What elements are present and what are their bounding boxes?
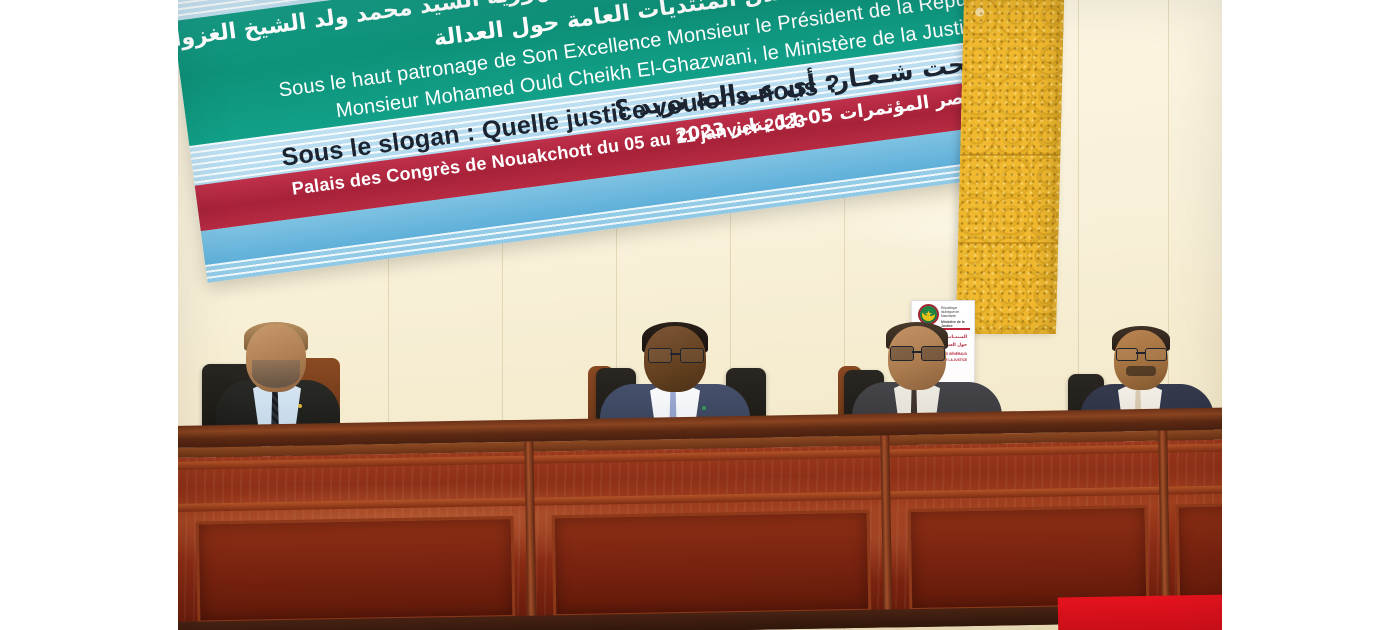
- column-seam: [960, 154, 1060, 156]
- column-seam: [958, 242, 1058, 244]
- panelist-4-moustache: [1126, 366, 1156, 376]
- panelist-1-beard: [252, 360, 300, 388]
- eyeglasses-icon: [1114, 348, 1168, 360]
- screenshot-root: ★ الجمهورية الإسلامية الموريتانية شرف - …: [0, 0, 1400, 630]
- desk-front-panel: [552, 510, 872, 618]
- lapel-pin-icon: [702, 406, 706, 410]
- desk-front-panel: [908, 505, 1150, 611]
- column-pattern-overlay: [956, 0, 1064, 334]
- conference-photograph: ★ الجمهورية الإسلامية الموريتانية شرف - …: [178, 0, 1222, 630]
- desk-front-panel: [1176, 503, 1222, 606]
- red-carpet: [1058, 595, 1222, 630]
- eyeglasses-icon: [644, 348, 706, 362]
- ornamental-gold-column: [956, 0, 1064, 334]
- desk-front-panel: [196, 516, 516, 624]
- eyeglasses-icon: [888, 346, 946, 360]
- lapel-pin-icon: [298, 404, 302, 408]
- rollup-header-text: République Islamique de Mauritanie: [941, 306, 971, 318]
